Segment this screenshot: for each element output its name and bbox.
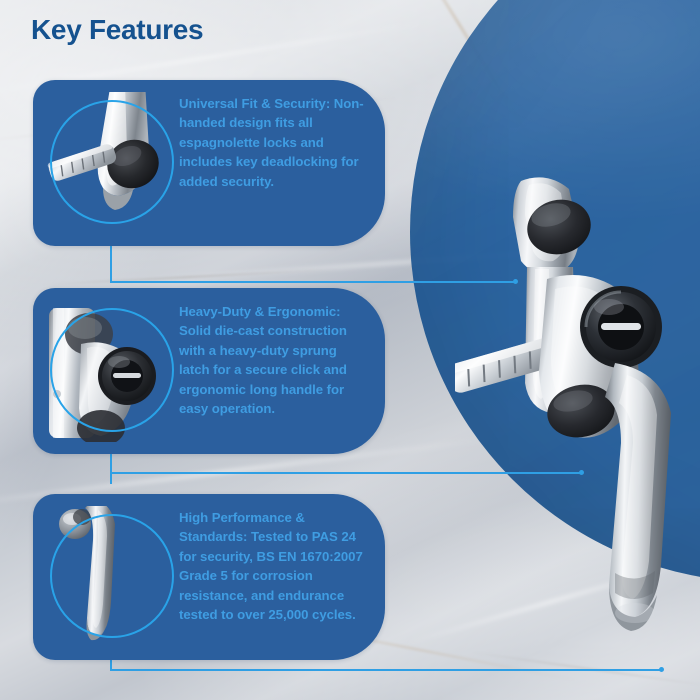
thumbnail-ring-3 [50, 514, 174, 638]
feature-thumbnail-1 [41, 92, 177, 234]
infographic-canvas: Key Features [0, 0, 700, 700]
feature-text-2: Heavy-Duty & Ergonomic: Solid die-cast c… [177, 288, 385, 428]
thumbnail-ring-2 [50, 308, 174, 432]
feature-thumbnail-3 [41, 506, 177, 648]
thumbnail-ring-1 [50, 100, 174, 224]
feature-card-high-performance-standards[interactable]: High Performance & Standards: Tested to … [33, 494, 385, 660]
espagnolette-window-handle-image [455, 175, 700, 635]
feature-text-3: High Performance & Standards: Tested to … [177, 494, 385, 634]
feature-card-heavy-duty-ergonomic[interactable]: Heavy-Duty & Ergonomic: Solid die-cast c… [33, 288, 385, 454]
feature-card-universal-fit-security[interactable]: Universal Fit & Security: Non-handed des… [33, 80, 385, 246]
page-title: Key Features [31, 14, 203, 46]
feature-text-1: Universal Fit & Security: Non-handed des… [177, 80, 385, 201]
feature-thumbnail-2 [41, 300, 177, 442]
